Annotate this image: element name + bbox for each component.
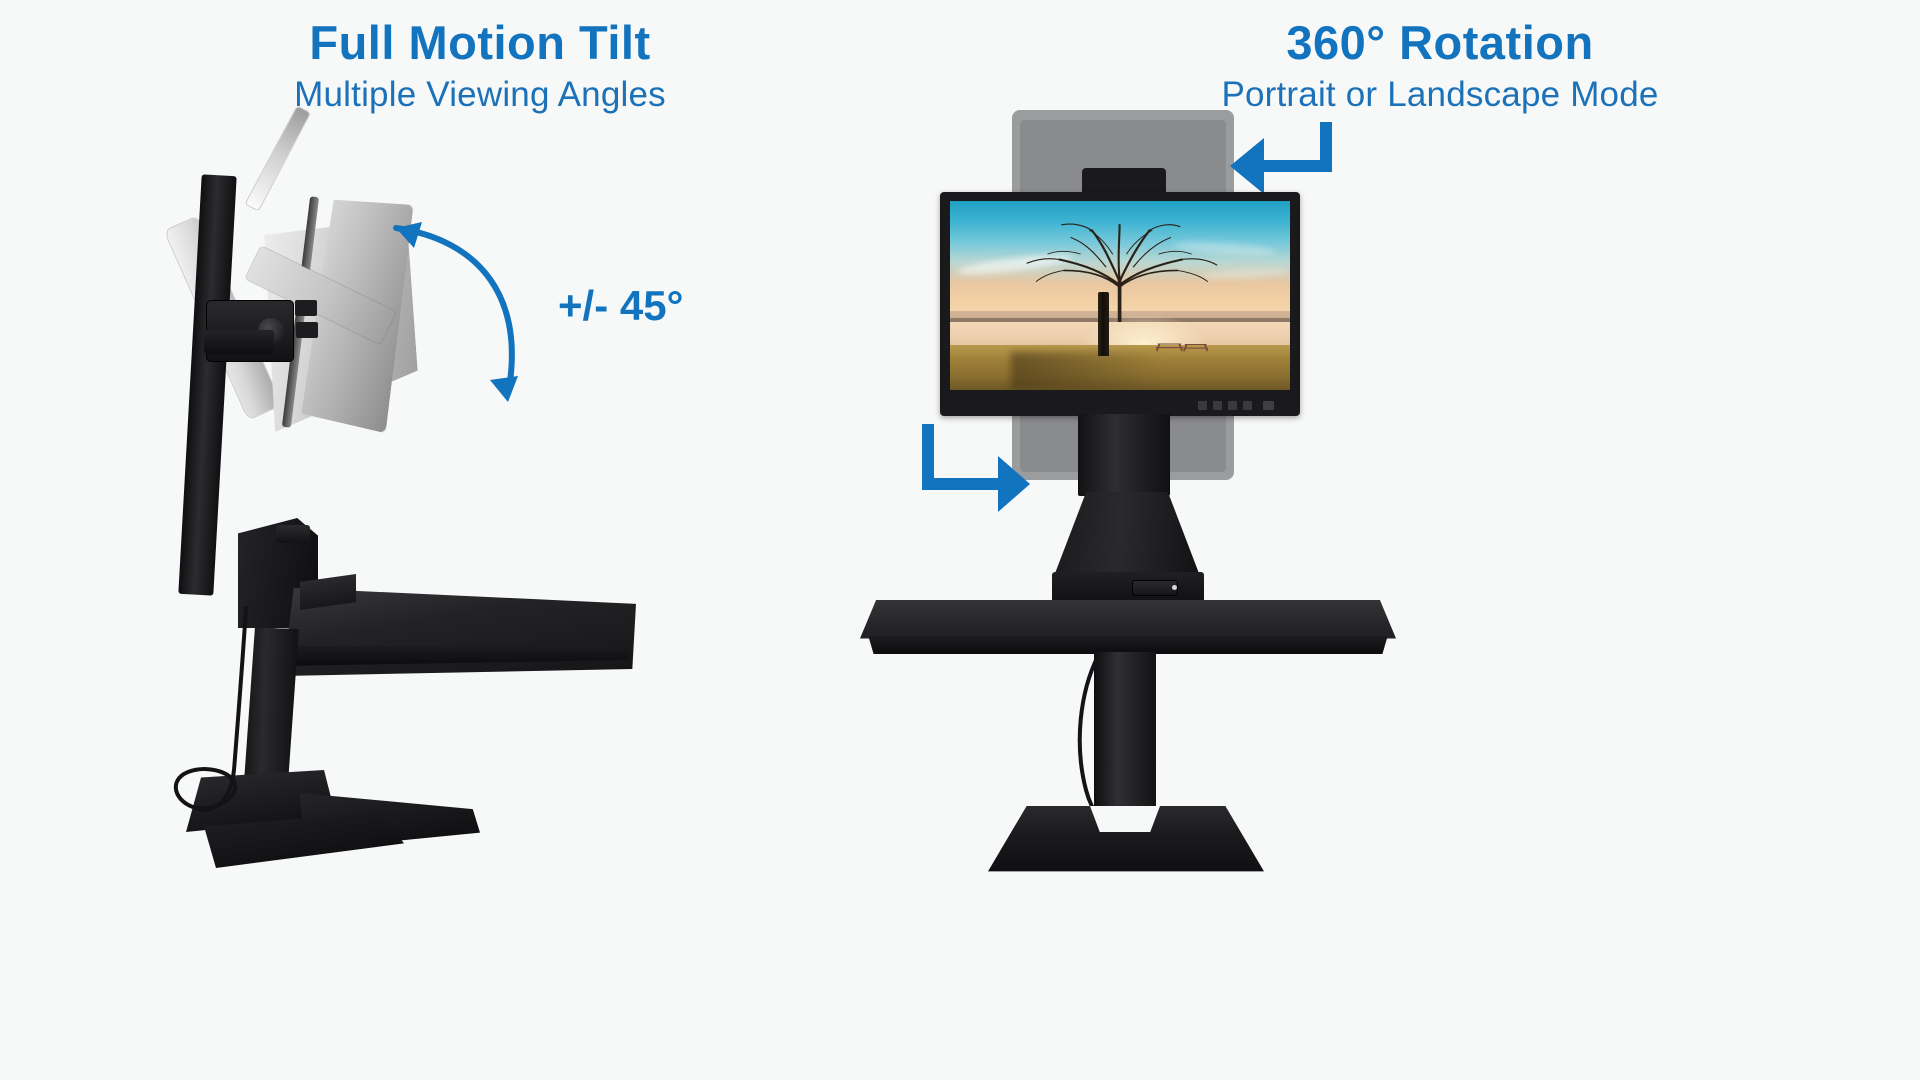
monitor-port-upper — [295, 300, 317, 316]
osd-button-4[interactable] — [1243, 401, 1252, 410]
power-button[interactable] — [1263, 401, 1274, 410]
rotation-product-illustration — [960, 0, 1920, 1080]
tilt-product-illustration: +/- 45° — [0, 0, 960, 1080]
arc-arrow-head-bottom — [490, 376, 518, 402]
base-plate-notch — [1090, 806, 1160, 832]
cable-clip — [276, 525, 310, 543]
ghost-monitor-tilt-up-face — [246, 107, 310, 211]
monitor-screen — [950, 201, 1290, 390]
vesa-arm-clamp — [204, 330, 274, 354]
wallpaper-tree-shadow — [1011, 352, 1198, 390]
rotate-arrow-top-right — [1228, 116, 1334, 196]
handle-indicator-dot — [1172, 585, 1177, 590]
monitor-port-lower — [296, 322, 318, 338]
rotate-arrow-bottom-left — [922, 420, 1032, 504]
osd-button-1[interactable] — [1198, 401, 1207, 410]
tilt-angle-label: +/- 45° — [558, 282, 683, 330]
infographic-canvas: Full Motion Tilt Multiple Viewing Angles… — [0, 0, 1920, 1080]
osd-button-3[interactable] — [1228, 401, 1237, 410]
monitor-osd-buttons[interactable] — [1198, 401, 1274, 410]
wallpaper-picnic-table — [1154, 339, 1208, 354]
power-cable-left — [150, 600, 370, 840]
osd-button-2[interactable] — [1213, 401, 1222, 410]
riser-shroud — [1054, 492, 1200, 576]
panel-full-motion-tilt: +/- 45° — [0, 0, 960, 1080]
desktop-wallpaper — [950, 201, 1290, 390]
wallpaper-tree-trunk — [1098, 292, 1109, 356]
vesa-bracket-neck — [1078, 414, 1170, 496]
monitor-landscape — [940, 192, 1300, 416]
panel-360-rotation — [960, 0, 1920, 1080]
